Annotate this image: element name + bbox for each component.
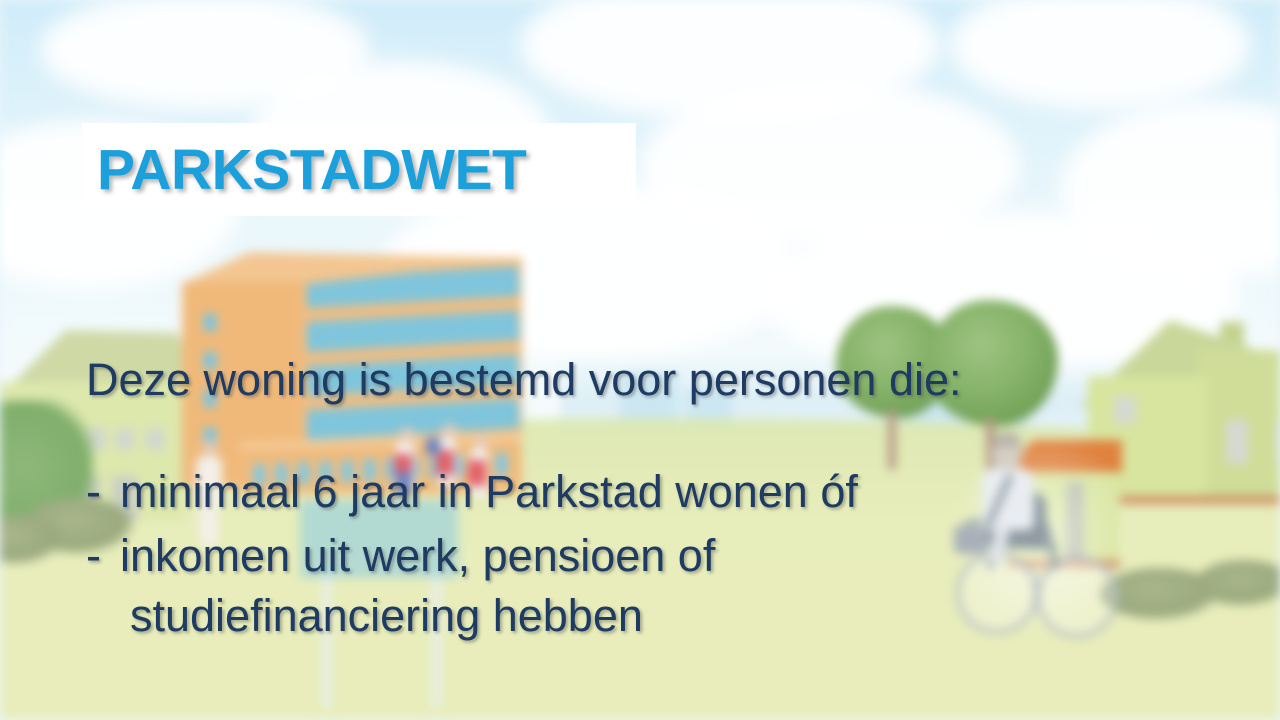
page-title: PARKSTADWET bbox=[97, 133, 657, 207]
list-item: - inkomen uit werk, pensioen of studiefi… bbox=[86, 526, 1206, 646]
list-item-continuation: studiefinanciering hebben bbox=[120, 586, 1206, 646]
bullet-dash: - bbox=[86, 462, 101, 522]
list-item: - minimaal 6 jaar in Parkstad wonen óf bbox=[86, 462, 1206, 522]
criteria-list: - minimaal 6 jaar in Parkstad wonen óf -… bbox=[86, 462, 1206, 646]
body-copy: Deze woning is bestemd voor personen die… bbox=[86, 352, 1206, 650]
slide-canvas: PARKSTADWET Deze woning is bestemd voor … bbox=[0, 0, 1280, 720]
slide-content: PARKSTADWET Deze woning is bestemd voor … bbox=[0, 0, 1280, 720]
lead-text: Deze woning is bestemd voor personen die… bbox=[86, 352, 1206, 408]
list-item-text: inkomen uit werk, pensioen of bbox=[120, 530, 715, 581]
list-item-text: minimaal 6 jaar in Parkstad wonen óf bbox=[120, 466, 858, 517]
bullet-dash: - bbox=[86, 526, 101, 586]
